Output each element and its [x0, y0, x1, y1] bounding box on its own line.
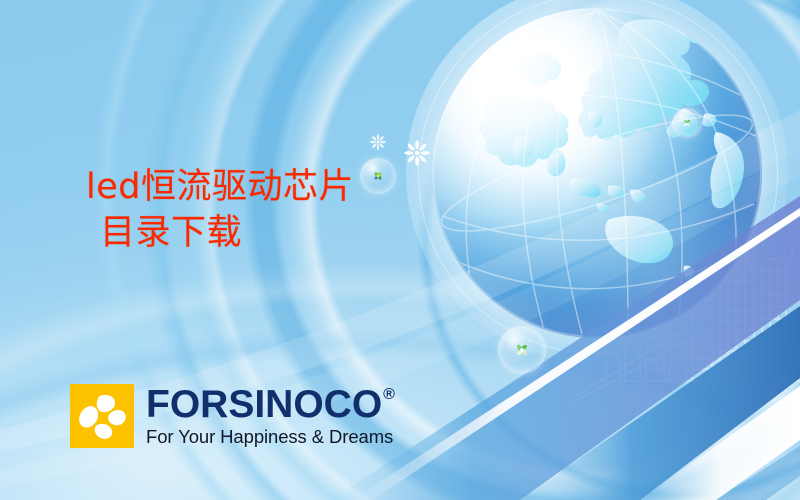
brand-name: FORSINOCO [146, 385, 382, 424]
headline-line-2: 目录下载 [86, 210, 506, 256]
bubble-icon [498, 326, 546, 374]
registered-trademark-icon: ® [383, 387, 395, 403]
brand-name-row: FORSINOCO ® [146, 385, 395, 424]
promo-banner: led恒流驱动芯片 目录下载 FORSINOCO ® For Your Happ… [0, 0, 800, 500]
headline: led恒流驱动芯片 目录下载 [86, 164, 506, 256]
pinwheel-icon [511, 339, 533, 361]
logo-text-block: FORSINOCO ® For Your Happiness & Dreams [146, 385, 395, 447]
brand-tagline: For Your Happiness & Dreams [146, 427, 395, 447]
brand-logo[interactable]: FORSINOCO ® For Your Happiness & Dreams [70, 384, 395, 448]
four-petal-pinwheel-icon [70, 384, 134, 448]
headline-line-1: led恒流驱动芯片 [86, 164, 506, 210]
bubble-icon [672, 108, 702, 138]
pinwheel-icon [680, 116, 694, 130]
